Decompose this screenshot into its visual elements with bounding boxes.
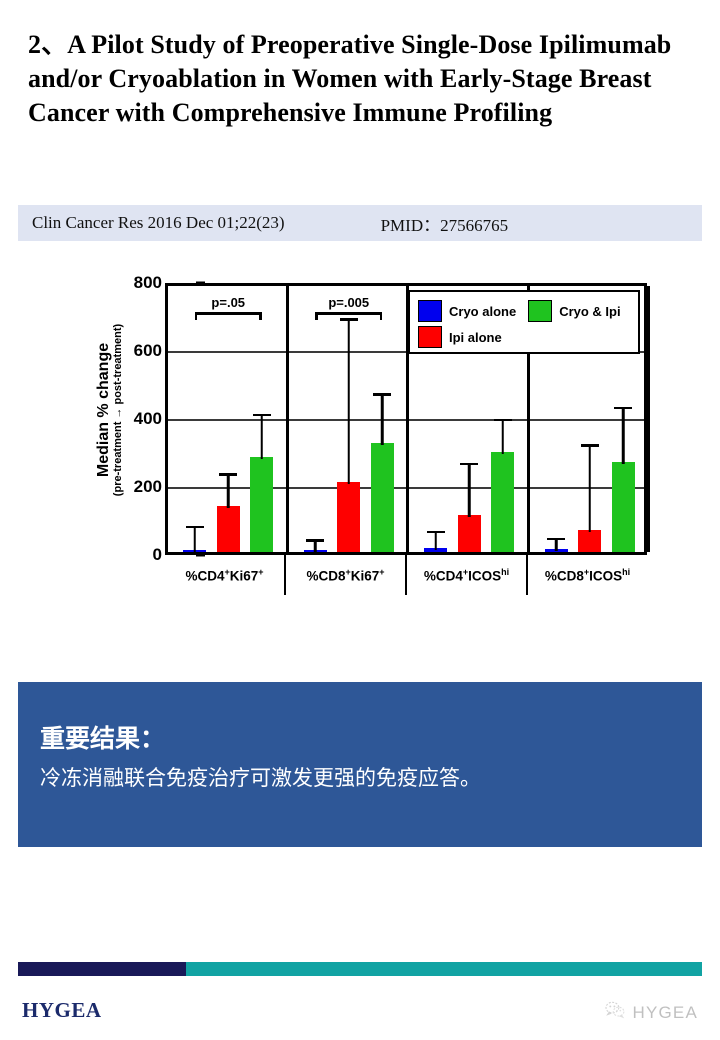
- error-bar: [314, 541, 317, 552]
- bar-group: [371, 280, 394, 552]
- error-bar: [381, 396, 384, 446]
- error-bar: [227, 476, 230, 509]
- y-axis-label: Median % change (pre-treatment → post-tr…: [66, 262, 106, 562]
- citation-bar: Clin Cancer Res 2016 Dec 01;22(23) PMID：…: [18, 205, 702, 241]
- y-axis-tick-label: 800: [134, 273, 162, 293]
- wechat-icon: [605, 1001, 625, 1024]
- x-axis-category-label: %CD8+Ki67+: [306, 567, 384, 584]
- error-bar-cap: [581, 444, 599, 447]
- bracket-tick-left: [195, 312, 198, 320]
- chart-legend: Cryo aloneCryo & IpiIpi alone: [408, 290, 640, 354]
- p-value-label: p=.05: [195, 295, 262, 310]
- legend-swatch: [418, 326, 442, 348]
- plot-area: p=.05p=.005p=.05p=.05p=.005p=.05Cryo alo…: [165, 283, 647, 555]
- bar-group: [304, 280, 327, 552]
- bar-group: [217, 280, 240, 552]
- x-axis-category-label: %CD4+ICOShi: [424, 567, 509, 584]
- error-bar-cap: [373, 393, 391, 396]
- citation-pmid: PMID：27566765: [381, 211, 509, 236]
- error-bar: [347, 321, 350, 485]
- x-axis-category-label: %CD4+Ki67+: [185, 567, 263, 584]
- bar-group: [250, 280, 273, 552]
- bar-chart-figure: Median % change (pre-treatment → post-tr…: [70, 262, 660, 622]
- legend-swatch: [418, 300, 442, 322]
- bracket-line: [315, 312, 382, 315]
- bar: [371, 443, 394, 552]
- bar: [337, 482, 360, 552]
- x-axis-category-cell: %CD4+Ki67+: [165, 555, 286, 595]
- bar: [217, 506, 240, 552]
- citation-reference: Clin Cancer Res 2016 Dec 01;22(23): [32, 213, 285, 233]
- y-axis-tick-label: 600: [134, 341, 162, 361]
- footer-brand-logo: HYGEA: [22, 998, 102, 1023]
- bar: [250, 457, 273, 552]
- y-axis-ticks: 0200400600800: [104, 262, 162, 534]
- x-axis-category-cell: %CD8+ICOShi: [528, 555, 647, 595]
- legend-item: Cryo alone: [418, 300, 516, 322]
- conclusion-heading: 重要结果：: [40, 720, 680, 758]
- legend-label: Ipi alone: [449, 330, 502, 345]
- error-bar: [622, 409, 625, 464]
- legend-row: Cryo aloneCryo & Ipi: [418, 298, 630, 324]
- bracket-tick-right: [380, 312, 383, 320]
- error-bar-cap: [460, 463, 478, 466]
- legend-swatch: [528, 300, 552, 322]
- legend-item: Cryo & Ipi: [528, 300, 620, 322]
- error-bar-cap: [306, 539, 324, 542]
- legend-item: Ipi alone: [418, 326, 536, 348]
- conclusion-body: 冷冻消融联合免疫治疗可激发更强的免疫应答。: [40, 762, 680, 796]
- x-axis-category-cell: %CD4+ICOShi: [407, 555, 528, 595]
- x-axis-category-cell: %CD8+Ki67+: [286, 555, 407, 595]
- footer-accent-navy: [18, 962, 186, 976]
- footer-accent-teal: [186, 962, 702, 976]
- error-bar-cap: [614, 407, 632, 410]
- error-bar-cap: [494, 419, 512, 422]
- error-bar: [435, 533, 438, 550]
- x-axis-category-label: %CD8+ICOShi: [545, 567, 630, 584]
- error-bar-cap: [219, 473, 237, 476]
- y-axis-tick-label: 400: [134, 409, 162, 429]
- bar-group: [183, 280, 206, 552]
- bar: [491, 452, 514, 552]
- bar: [612, 462, 635, 552]
- bar: [458, 515, 481, 552]
- bracket-tick-right: [259, 312, 262, 320]
- legend-label: Cryo alone: [449, 304, 516, 319]
- x-axis-labels: %CD4+Ki67+%CD8+Ki67+%CD4+ICOShi%CD8+ICOS…: [165, 555, 647, 595]
- error-bar: [468, 465, 471, 516]
- bar-group: [337, 280, 360, 552]
- chart-panel: p=.005: [289, 286, 410, 552]
- error-bar: [194, 527, 197, 552]
- error-bar-cap: [340, 318, 358, 321]
- footer-wechat-label: HYGEA: [632, 1003, 698, 1023]
- bracket-line: [195, 312, 262, 315]
- page-title: 2、A Pilot Study of Preoperative Single-D…: [28, 28, 688, 129]
- y-axis-tick-label: 200: [134, 477, 162, 497]
- error-bar: [260, 416, 263, 459]
- error-bar-cap: [427, 531, 445, 534]
- p-value-label: p=.005: [315, 295, 382, 310]
- error-bar: [588, 447, 591, 532]
- legend-label: Cryo & Ipi: [559, 304, 620, 319]
- error-bar-cap: [547, 538, 565, 541]
- error-bar-cap: [186, 526, 204, 529]
- chart-panel: p=.05: [168, 286, 289, 552]
- error-bar: [555, 540, 558, 551]
- error-bar-cap: [253, 414, 271, 417]
- error-bar: [501, 421, 504, 454]
- y-axis-tick-label: 0: [153, 545, 162, 565]
- bar: [578, 530, 601, 552]
- legend-row: Ipi alone: [418, 324, 630, 350]
- bracket-tick-left: [315, 312, 318, 320]
- footer-wechat-block: HYGEA: [605, 1001, 698, 1024]
- conclusion-box: 重要结果： 冷冻消融联合免疫治疗可激发更强的免疫应答。: [18, 682, 702, 847]
